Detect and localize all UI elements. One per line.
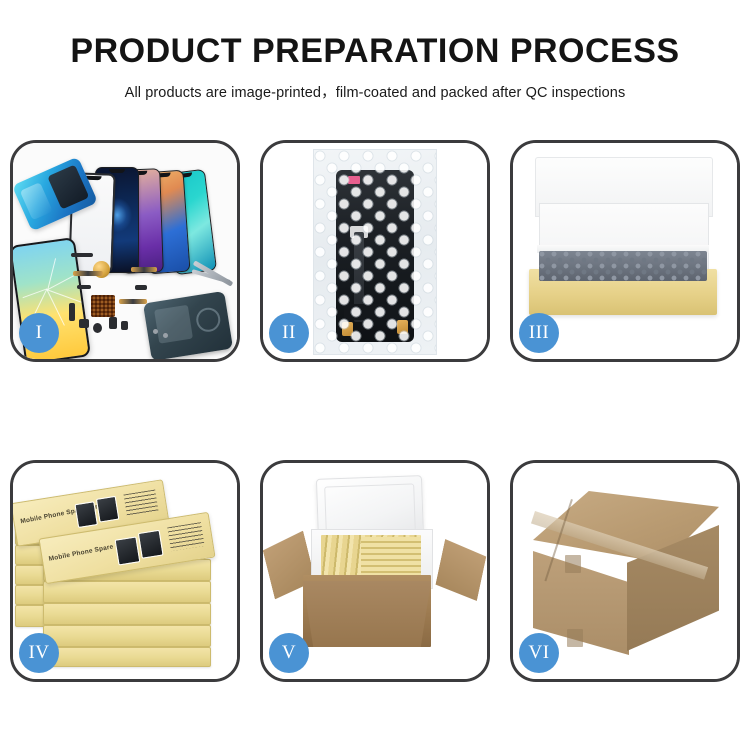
box-artwork-thumb <box>96 496 120 523</box>
flex-cable <box>131 267 157 272</box>
page-title: PRODUCT PREPARATION PROCESS <box>0 34 750 70</box>
box-spec-lines <box>124 490 159 517</box>
step-badge-5: V <box>269 633 309 673</box>
carton-label-patch <box>567 629 583 647</box>
packed-yellow-boxes-right <box>361 537 421 579</box>
step-panel-1[interactable]: I <box>10 140 240 362</box>
step-badge-6: VI <box>519 633 559 673</box>
small-component <box>77 285 91 289</box>
bubble-texture <box>314 150 436 354</box>
stacked-box <box>43 581 211 603</box>
stacked-box <box>43 625 211 647</box>
step-panel-3[interactable]: III <box>510 140 740 362</box>
box-artwork-thumb <box>74 501 98 528</box>
bubble-wrap-bag <box>313 149 437 355</box>
small-component <box>79 319 89 328</box>
step-panel-2[interactable]: II <box>260 140 490 362</box>
flex-cable <box>119 299 147 304</box>
step-panel-4[interactable]: Mobile Phone Spare Parts Mobile Phone Sp… <box>10 460 240 682</box>
stacked-box <box>43 647 211 667</box>
box-artwork-thumb <box>115 536 141 565</box>
yellow-box-tray <box>529 269 717 315</box>
step-badge-4: IV <box>19 633 59 673</box>
small-component <box>135 285 147 290</box>
screw-part <box>163 333 168 338</box>
step-badge-3: III <box>519 313 559 353</box>
box-artwork-thumb <box>138 530 164 559</box>
step-panel-5[interactable]: V <box>260 460 490 682</box>
step-panel-6[interactable]: VI <box>510 460 740 682</box>
small-component <box>69 303 75 321</box>
carton-front-face <box>303 581 431 647</box>
connector-grid-chip <box>91 295 115 317</box>
earpiece-mesh-part <box>71 253 93 257</box>
page-header: PRODUCT PREPARATION PROCESS All products… <box>0 0 750 102</box>
page-subtitle: All products are image-printed，film-coat… <box>0 81 750 102</box>
flex-cable <box>73 271 103 276</box>
step-badge-2: II <box>269 313 309 353</box>
process-steps-grid: I II <box>0 140 750 682</box>
tweezers-tool <box>193 260 234 286</box>
vibrator-motor-part <box>93 323 102 333</box>
stacked-box <box>43 603 211 625</box>
bubble-padding-fill <box>539 251 707 281</box>
screw-part <box>153 329 158 334</box>
small-component <box>121 321 128 330</box>
carton-label-patch <box>565 555 581 573</box>
step-badge-1: I <box>19 313 59 353</box>
battery-connector-part <box>109 317 117 329</box>
box-spec-lines <box>167 522 204 551</box>
